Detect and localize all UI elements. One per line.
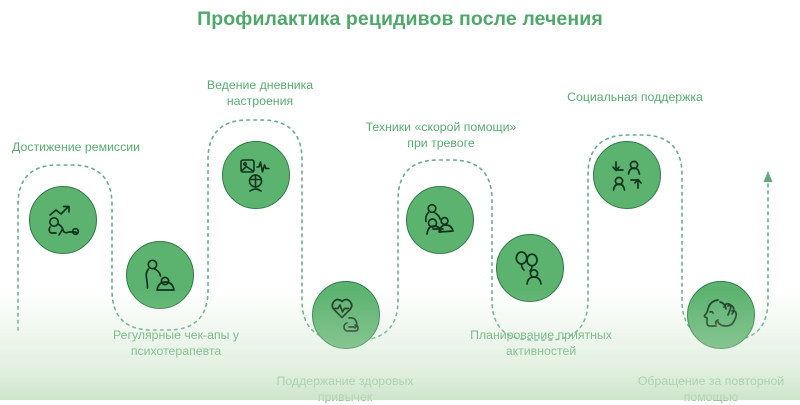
- heart-pulse-muscle-icon: [325, 294, 367, 336]
- step-label-6: Планирование приятных активностей: [448, 328, 634, 359]
- step-node-7[interactable]: [593, 141, 661, 209]
- step-node-2[interactable]: [126, 241, 194, 309]
- step-node-8[interactable]: [687, 281, 755, 349]
- step-label-1: Достижение ремиссии: [0, 140, 152, 156]
- step-node-6[interactable]: [496, 234, 564, 302]
- step-node-1[interactable]: [29, 186, 97, 254]
- step-label-8: Обращение за повторной помощью: [618, 374, 800, 405]
- step-node-5[interactable]: [406, 186, 474, 254]
- step-label-2: Регулярные чек-апы у психотерапевта: [78, 328, 274, 359]
- person-support-icon: [419, 199, 461, 241]
- step-node-3[interactable]: [222, 141, 290, 209]
- step-label-7: Социальная поддержка: [542, 90, 728, 106]
- mood-diary-icon: [235, 154, 277, 196]
- person-growth-arrow-icon: [42, 199, 84, 241]
- step-label-5: Техники «скорой помощи» при тревоге: [348, 120, 534, 151]
- people-exchange-arrows-icon: [606, 154, 648, 196]
- step-node-4[interactable]: [312, 281, 380, 349]
- head-hand-help-icon: [700, 294, 742, 336]
- step-label-4: Поддержание здоровых привычек: [254, 374, 436, 405]
- two-people-session-icon: [139, 254, 181, 296]
- balloons-person-icon: [509, 247, 551, 289]
- infographic-canvas: Профилактика рецидивов после лечения: [0, 0, 800, 400]
- step-label-3: Ведение дневника настроения: [178, 78, 342, 109]
